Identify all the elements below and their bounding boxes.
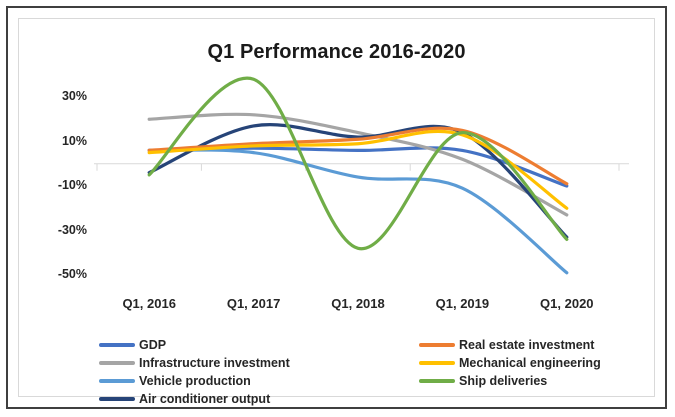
chart-legend: GDPInfrastructure investmentVehicle prod…: [99, 336, 659, 416]
legend-item-label: GDP: [139, 338, 166, 352]
legend-item[interactable]: Air conditioner output: [99, 390, 290, 407]
legend-item-label: Mechanical engineering: [459, 356, 601, 370]
legend-color-swatch: [419, 343, 455, 347]
legend-item[interactable]: Infrastructure investment: [99, 354, 290, 371]
y-axis-tick-label: -10%: [27, 178, 87, 192]
legend-item-label: Ship deliveries: [459, 374, 547, 388]
legend-item-label: Vehicle production: [139, 374, 251, 388]
legend-column-left: GDPInfrastructure investmentVehicle prod…: [99, 336, 290, 408]
y-axis-tick-label: 30%: [27, 89, 87, 103]
legend-item[interactable]: GDP: [99, 336, 290, 353]
legend-item-label: Real estate investment: [459, 338, 594, 352]
legend-item-label: Air conditioner output: [139, 392, 270, 406]
legend-item-label: Infrastructure investment: [139, 356, 290, 370]
y-axis-tick-label: -50%: [27, 267, 87, 281]
y-axis-tick-label: -30%: [27, 223, 87, 237]
x-axis-tick-label: Q1, 2020: [512, 296, 622, 311]
legend-item[interactable]: Real estate investment: [419, 336, 601, 353]
figure-frame: Q1 Performance 2016-2020 30%10%-10%-30%-…: [6, 6, 667, 409]
legend-color-swatch: [419, 379, 455, 383]
legend-color-swatch: [99, 397, 135, 401]
legend-item[interactable]: Ship deliveries: [419, 372, 601, 389]
x-axis-tick-label: Q1, 2017: [199, 296, 309, 311]
legend-color-swatch: [99, 361, 135, 365]
y-axis-tick-label: 10%: [27, 134, 87, 148]
legend-color-swatch: [99, 379, 135, 383]
legend-item[interactable]: Mechanical engineering: [419, 354, 601, 371]
legend-item[interactable]: Vehicle production: [99, 372, 290, 389]
series-line: [149, 131, 567, 208]
x-axis-tick-label: Q1, 2019: [407, 296, 517, 311]
x-axis-tick-label: Q1, 2018: [303, 296, 413, 311]
x-axis-tick-label: Q1, 2016: [94, 296, 204, 311]
legend-color-swatch: [419, 361, 455, 365]
legend-color-swatch: [99, 343, 135, 347]
legend-column-right: Real estate investmentMechanical enginee…: [419, 336, 601, 390]
chart-plot-area: Q1 Performance 2016-2020 30%10%-10%-30%-…: [18, 18, 655, 397]
